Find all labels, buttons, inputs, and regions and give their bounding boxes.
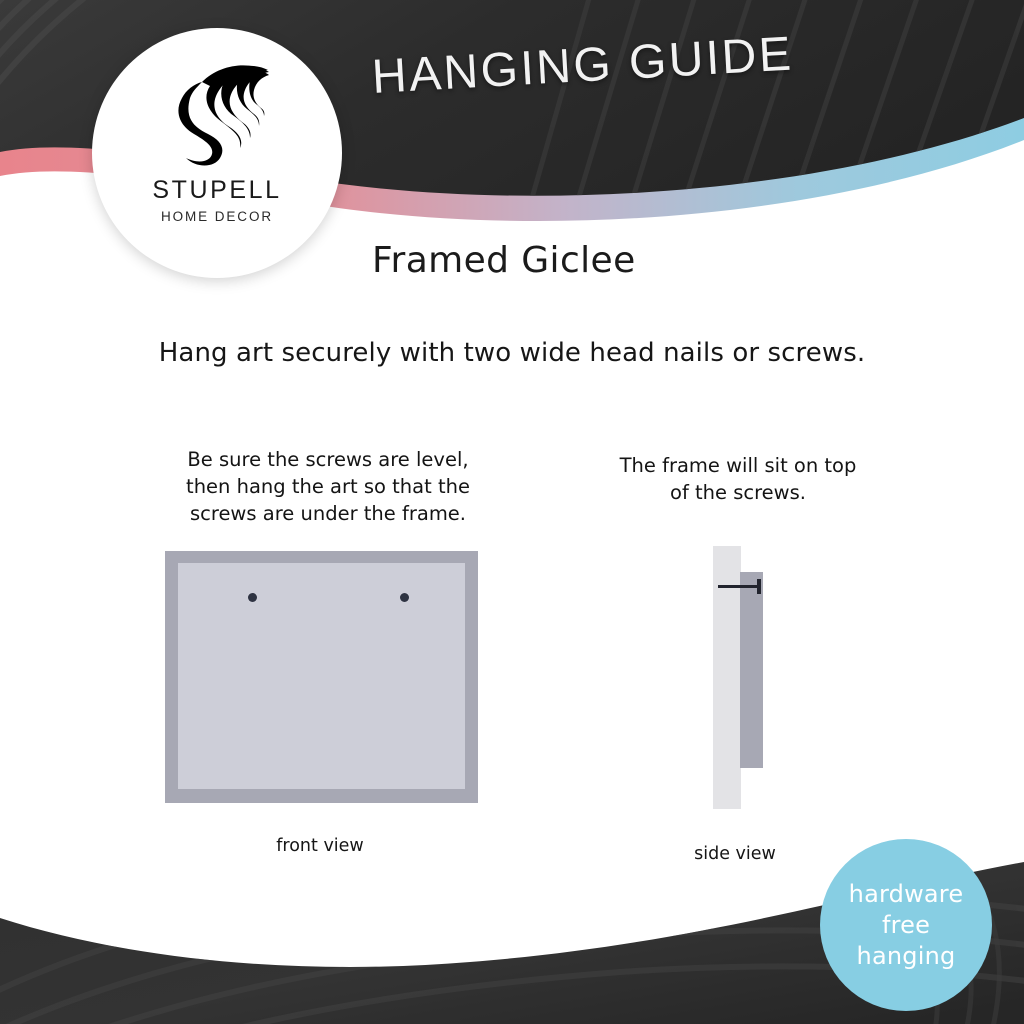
hardware-free-badge: hardware free hanging [820, 839, 992, 1011]
badge-line: free [882, 910, 930, 941]
hanging-guide-page: STUPELL HOME DECOR HANGING GUIDE Framed … [0, 0, 1024, 1024]
caption-line: of the screws. [595, 479, 881, 506]
stupell-swoosh-icon [164, 58, 270, 170]
nail-shaft-icon [718, 585, 760, 588]
screw-dot-right-icon [400, 593, 409, 602]
nail-head-icon [757, 579, 761, 594]
brand-logo-badge: STUPELL HOME DECOR [92, 28, 342, 278]
main-instruction: Hang art securely with two wide head nai… [0, 338, 1024, 368]
brand-name: STUPELL [152, 176, 281, 205]
side-view-diagram [705, 543, 785, 813]
caption-line: screws are under the frame. [178, 500, 478, 527]
product-type: Framed Giclee [372, 240, 636, 281]
front-view-caption: Be sure the screws are level, then hang … [178, 446, 478, 527]
front-view-diagram [165, 551, 478, 803]
front-view-label: front view [195, 836, 445, 856]
brand-tagline: HOME DECOR [161, 209, 273, 224]
caption-line: The frame will sit on top [595, 452, 881, 479]
badge-line: hanging [857, 941, 956, 972]
side-view-label: side view [650, 844, 820, 864]
caption-line: Be sure the screws are level, [178, 446, 478, 473]
badge-line: hardware [849, 879, 964, 910]
caption-line: then hang the art so that the [178, 473, 478, 500]
screw-dot-left-icon [248, 593, 257, 602]
frame-mat [178, 563, 465, 789]
side-view-caption: The frame will sit on top of the screws. [595, 452, 881, 506]
page-title: HANGING GUIDE [370, 26, 794, 104]
frame-strip [740, 572, 763, 768]
